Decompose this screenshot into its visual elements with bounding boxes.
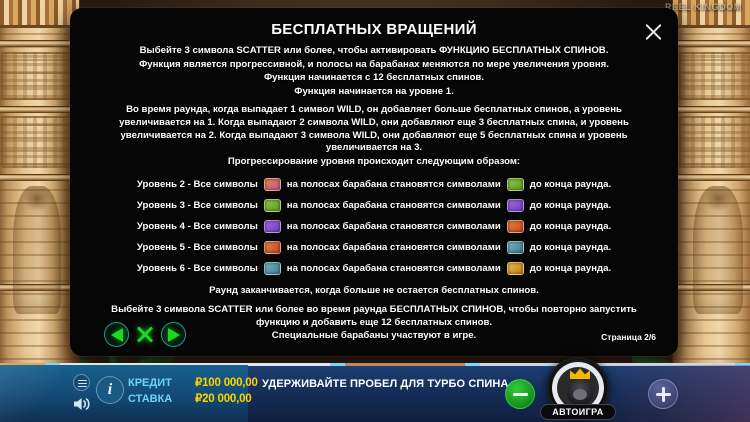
symbol-from-icon [264, 262, 281, 275]
level-row-prefix: Уровень 2 - Все символы [137, 179, 258, 190]
temple-column-left [0, 0, 80, 374]
column-band [0, 106, 79, 113]
info-dialog: БЕСПЛАТНЫХ ВРАЩЕНИЙ Выбейте 3 символа SC… [70, 8, 678, 356]
symbol-from-icon [264, 199, 281, 212]
minus-icon [513, 393, 528, 396]
level-row-middle: на полосах барабана становятся символами [287, 221, 501, 232]
temple-column-right [672, 0, 750, 374]
intro-line-4: Функция начинается на уровне 1. [92, 86, 656, 99]
column-band [0, 40, 79, 47]
hieroglyph-panel [679, 52, 750, 100]
page-title: БЕСПЛАТНЫХ ВРАЩЕНИЙ [92, 8, 656, 38]
bet-row: СТАВКА ₽20 000,00 [128, 391, 258, 407]
close-x-icon[interactable] [134, 324, 156, 346]
column-band [673, 174, 750, 181]
deity-relief [693, 186, 743, 314]
level-row-suffix: до конца раунда. [530, 242, 611, 253]
level-row-middle: на полосах барабана становятся символами [287, 179, 501, 190]
level-row-prefix: Уровень 5 - Все символы [137, 242, 258, 253]
level-row-middle: на полосах барабана становятся символами [287, 242, 501, 253]
gorilla-icon [567, 379, 593, 405]
info-icon[interactable]: i [96, 376, 124, 404]
level-row-suffix: до конца раунда. [530, 200, 611, 211]
credit-label: КРЕДИТ [128, 377, 188, 389]
close-icon[interactable] [642, 21, 664, 43]
credit-row: КРЕДИТ ₽100 000,00 [128, 375, 258, 391]
list-item: Уровень 2 - Все символы на полосах бараб… [92, 174, 656, 195]
credit-bet-block: КРЕДИТ ₽100 000,00 СТАВКА ₽20 000,00 [128, 375, 258, 407]
level-row-prefix: Уровень 4 - Все символы [137, 221, 258, 232]
dialog-navigation [104, 322, 186, 347]
column-capital [0, 0, 79, 28]
level-row-prefix: Уровень 6 - Все символы [137, 263, 258, 274]
symbol-to-icon [507, 262, 524, 275]
column-band [673, 106, 750, 113]
level-row-suffix: до конца раунда. [530, 221, 611, 232]
list-item: Уровень 6 - Все символы на полосах бараб… [92, 258, 656, 279]
symbol-to-icon [507, 178, 524, 191]
list-item: Уровень 3 - Все символы на полосах бараб… [92, 195, 656, 216]
intro-line-3: Функция начинается с 12 бесплатных спино… [92, 72, 656, 85]
symbol-from-icon [264, 220, 281, 233]
increase-bet-button[interactable] [648, 379, 678, 409]
level-progression-list: Уровень 2 - Все символы на полосах бараб… [92, 174, 656, 279]
turbo-spin-hint: УДЕРЖИВАЙТЕ ПРОБЕЛ ДЛЯ ТУРБО СПИНА [262, 378, 509, 390]
symbol-to-icon [507, 220, 524, 233]
column-band [673, 40, 750, 47]
symbol-to-icon [507, 241, 524, 254]
page-indicator: Страница 2/6 [601, 332, 656, 342]
level-row-suffix: до конца раунда. [530, 263, 611, 274]
level-row-middle: на полосах барабана становятся символами [287, 200, 501, 211]
symbol-from-icon [264, 241, 281, 254]
list-item: Уровень 4 - Все символы на полосах бараб… [92, 216, 656, 237]
round-end-paragraph: Раунд заканчивается, когда больше не ост… [92, 285, 656, 298]
hieroglyph-panel [1, 116, 73, 168]
credit-value: ₽100 000,00 [195, 375, 258, 389]
progression-header: Прогрессирование уровня происходит следу… [92, 156, 656, 169]
arrow-right-icon[interactable] [161, 322, 186, 347]
level-row-prefix: Уровень 3 - Все символы [137, 200, 258, 211]
symbol-to-icon [507, 199, 524, 212]
bet-value: ₽20 000,00 [195, 391, 251, 405]
list-item: Уровень 5 - Все символы на полосах бараб… [92, 237, 656, 258]
column-band [0, 174, 79, 181]
level-row-middle: на полосах барабана становятся символами [287, 263, 501, 274]
intro-line-1: Выбейте 3 символа SCATTER или более, что… [92, 45, 656, 58]
bet-label: СТАВКА [128, 393, 188, 405]
sound-on-icon[interactable] [72, 396, 91, 412]
level-row-suffix: до конца раунда. [530, 179, 611, 190]
autoplay-button[interactable]: АВТОИГРА [540, 404, 616, 420]
hieroglyph-panel [1, 52, 73, 100]
hieroglyph-panel [679, 116, 750, 168]
decrease-bet-button[interactable] [505, 379, 535, 409]
symbol-from-icon [264, 178, 281, 191]
deity-relief [13, 186, 60, 314]
hamburger-menu-icon[interactable] [73, 374, 90, 391]
wild-rules-paragraph: Во время раунда, когда выпадает 1 символ… [92, 104, 656, 154]
intro-line-2: Функция является прогрессивной, и полосы… [92, 59, 656, 72]
arrow-left-icon[interactable] [104, 322, 129, 347]
